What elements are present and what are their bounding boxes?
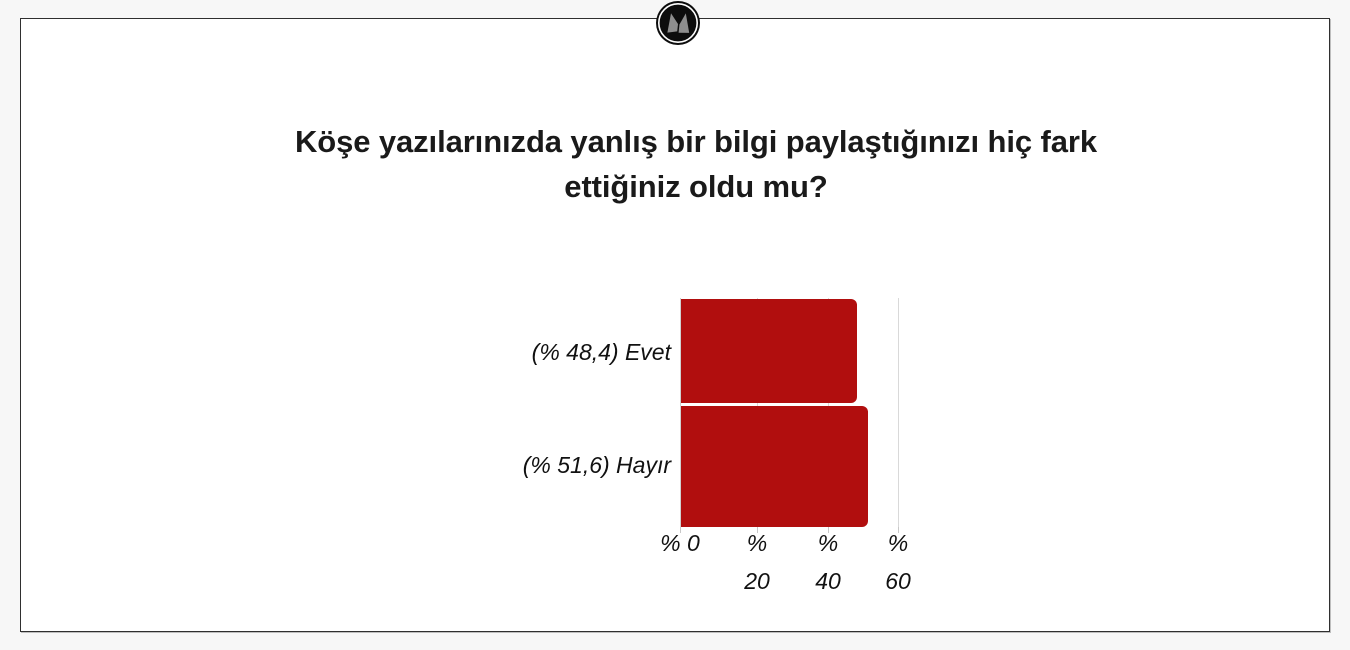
xtick-label-20-part-1: % <box>747 530 767 556</box>
xtick-label-60: % 60 <box>875 524 921 600</box>
xtick-label-20: % 20 <box>734 524 780 600</box>
xtick-label-0-part-1: % <box>660 530 680 556</box>
xtick-label-60-part-2: 60 <box>885 568 911 594</box>
xtick-label-40-part-2: 40 <box>815 568 841 594</box>
gridline-60 <box>898 298 899 529</box>
xtick-label-40-part-1: % <box>818 530 838 556</box>
xtick-label-0: % 0 <box>632 524 728 562</box>
screenshot-root: Köşe yazılarınızda yanlış bir bilgi payl… <box>0 0 1350 650</box>
bar-evet[interactable] <box>681 299 857 403</box>
chart-plot-area: (% 48,4) Evet (% 51,6) Hayır % 0 % 20 % … <box>21 19 1331 633</box>
slide-canvas: Köşe yazılarınızda yanlış bir bilgi payl… <box>20 18 1330 632</box>
xtick-label-40: % 40 <box>805 524 851 600</box>
category-label-hayir: (% 51,6) Hayır <box>321 452 671 479</box>
bar-hayir[interactable] <box>681 406 868 527</box>
xtick-label-20-part-2: 20 <box>744 568 770 594</box>
xtick-label-60-part-1: % <box>888 530 908 556</box>
m-monogram-logo-icon <box>655 0 701 46</box>
xtick-label-0-part-2: 0 <box>687 530 700 556</box>
category-label-evet: (% 48,4) Evet <box>321 339 671 366</box>
